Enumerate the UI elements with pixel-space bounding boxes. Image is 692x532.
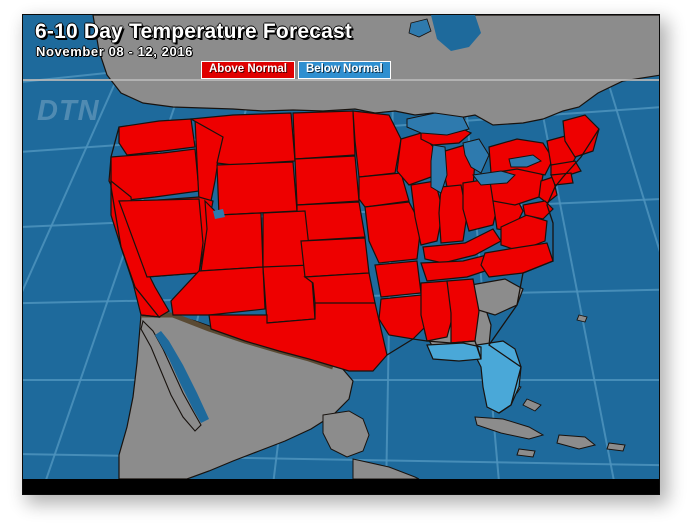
legend: Above Normal Below Normal [201, 61, 391, 79]
state-missouri [365, 202, 421, 263]
island-bermuda [577, 315, 587, 322]
island-jamaica [517, 449, 535, 457]
footer-black-strip [23, 479, 660, 495]
map-geography [23, 15, 660, 479]
state-wyoming [217, 162, 297, 215]
state-arkansas [375, 261, 421, 297]
map-frame: DTN 6-10 Day Temperature Forecast Novemb… [22, 14, 660, 495]
state-kansas [301, 238, 369, 277]
island-cuba [475, 417, 543, 439]
state-alabama [447, 279, 479, 343]
island-puerto-rico [607, 443, 625, 451]
lake-superior [407, 113, 469, 135]
state-iowa [359, 173, 409, 207]
region-central-america [353, 459, 419, 479]
state-north-carolina [481, 243, 553, 277]
page-root: DTN 6-10 Day Temperature Forecast Novemb… [0, 0, 692, 532]
state-south-dakota [295, 156, 359, 205]
region-florida-panhandle [427, 343, 481, 361]
legend-item-above-normal[interactable]: Above Normal [201, 61, 295, 79]
header-separator-rule [23, 79, 660, 81]
state-louisiana [379, 295, 427, 339]
island-bahamas-2 [523, 399, 541, 411]
state-minnesota [353, 111, 401, 177]
forecast-map[interactable]: DTN 6-10 Day Temperature Forecast Novemb… [23, 15, 660, 479]
dtn-watermark: DTN [37, 95, 100, 128]
island-hispaniola [557, 435, 595, 449]
state-washington [119, 119, 195, 155]
lake-michigan [431, 145, 447, 193]
state-oklahoma [305, 273, 375, 307]
state-north-dakota [293, 111, 355, 159]
region-yucatan [323, 411, 369, 457]
legend-item-below-normal[interactable]: Below Normal [298, 61, 391, 79]
